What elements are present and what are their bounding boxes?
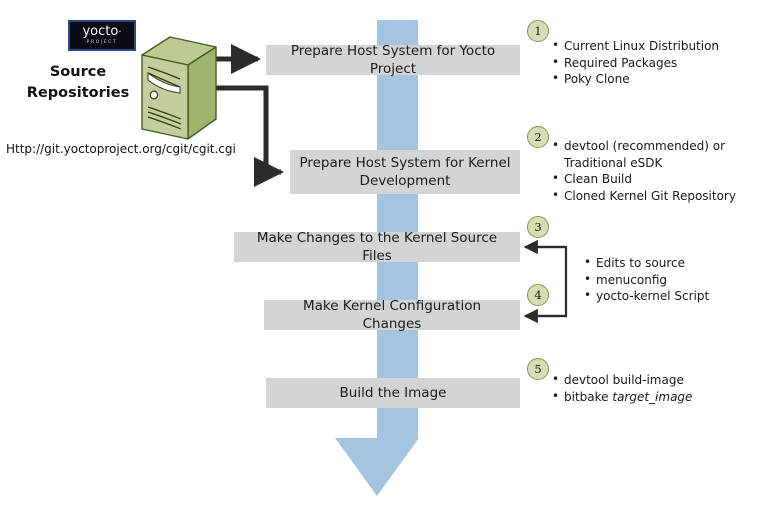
source-label-line2: Repositories <box>18 83 138 104</box>
source-label-line1: Source <box>18 62 138 83</box>
source-repositories-label: Source Repositories <box>18 62 138 104</box>
note-item: devtool (recommended) or Traditional eSD… <box>552 138 757 171</box>
step-badge-1: 1 <box>527 20 549 42</box>
arrow-server-to-step2 <box>213 88 281 172</box>
logo-dot: · <box>118 27 121 38</box>
step-notes-3-4: Edits to source menuconfig yocto-kernel … <box>584 255 764 305</box>
note-item-italic: target_image <box>612 390 692 404</box>
step-notes-1: Current Linux Distribution Required Pack… <box>552 38 762 88</box>
logo-word-text: yocto <box>82 24 118 39</box>
step-badge-4: 4 <box>527 284 549 306</box>
kernel-development-flow-diagram: yocto· PROJECT Source Repositories Http:… <box>0 0 769 517</box>
note-item: Required Packages <box>552 55 762 72</box>
note-item: Current Linux Distribution <box>552 38 762 55</box>
step-notes-2: devtool (recommended) or Traditional eSD… <box>552 138 757 204</box>
note-item: Poky Clone <box>552 71 762 88</box>
step-badge-3: 3 <box>527 216 549 238</box>
step-badge-5: 5 <box>527 358 549 380</box>
step-box-build-image[interactable]: Build the Image <box>266 378 520 408</box>
source-repository-url: Http://git.yoctoproject.org/cgit/cgit.cg… <box>6 142 236 156</box>
note-item: menuconfig <box>584 272 764 289</box>
step-badge-2: 2 <box>527 126 549 148</box>
yocto-project-logo: yocto· PROJECT <box>68 20 136 51</box>
note-item: Cloned Kernel Git Repository <box>552 188 757 205</box>
step-box-prepare-host-yocto[interactable]: Prepare Host System for Yocto Project <box>266 45 520 75</box>
note-item: yocto-kernel Script <box>584 288 764 305</box>
step-box-make-config-changes[interactable]: Make Kernel Configuration Changes <box>264 300 520 330</box>
step-box-prepare-host-kernel[interactable]: Prepare Host System for Kernel Developme… <box>290 150 520 194</box>
note-item: bitbake target_image <box>552 389 757 406</box>
step-notes-5: devtool build-image bitbake target_image <box>552 372 757 405</box>
server-tower-icon <box>136 33 220 145</box>
note-item-prefix: bitbake <box>564 390 612 404</box>
logo-subtitle: PROJECT <box>87 40 118 46</box>
feedback-loop-spine <box>527 247 566 316</box>
note-item: devtool build-image <box>552 372 757 389</box>
logo-wordmark: yocto· <box>82 25 121 39</box>
step-box-make-source-changes[interactable]: Make Changes to the Kernel Source Files <box>234 232 520 262</box>
note-item: Clean Build <box>552 171 757 188</box>
note-item: Edits to source <box>584 255 764 272</box>
